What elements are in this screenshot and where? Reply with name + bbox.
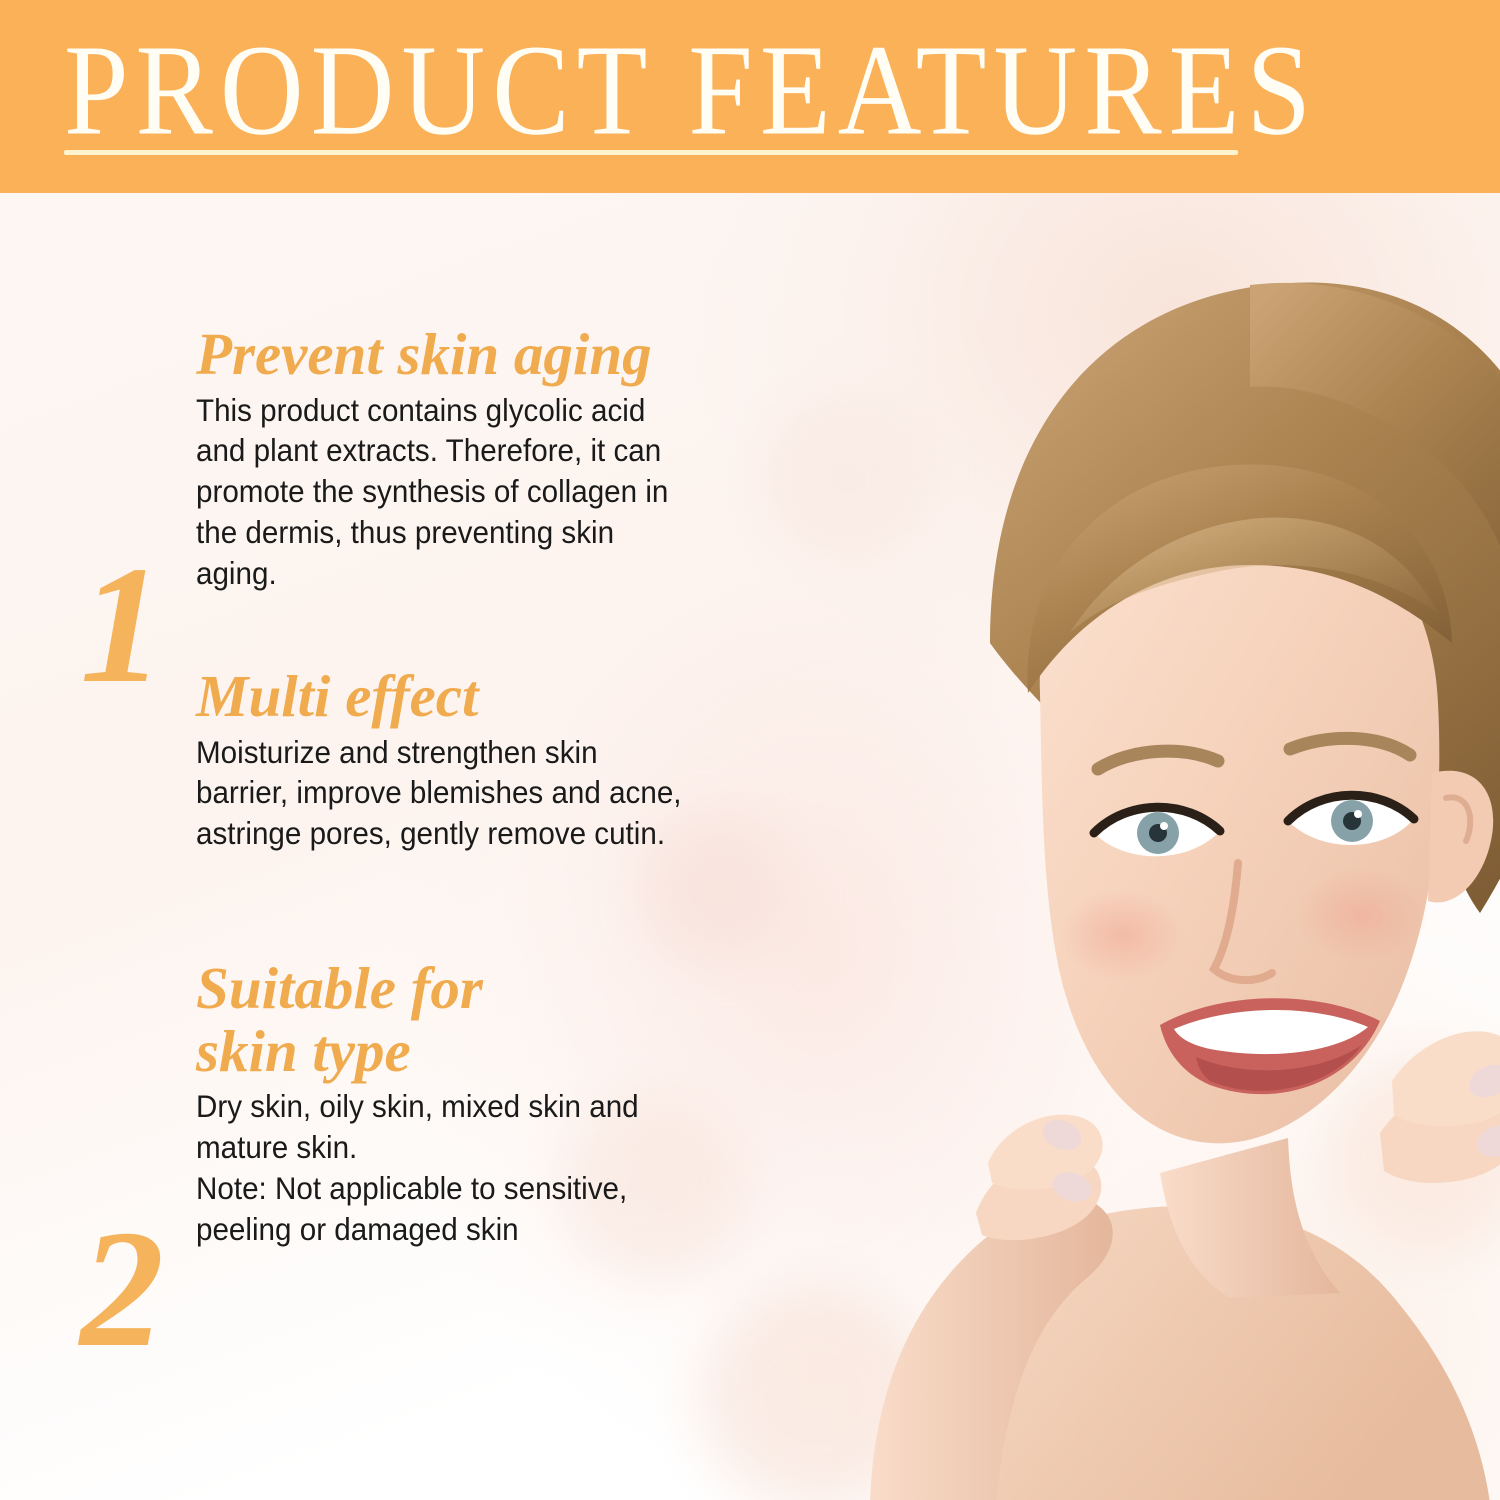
feature-heading: Suitable for skin type [196,957,716,1082]
feature-body: Suitable for skin type Dry skin, oily sk… [196,957,716,1250]
feature-paragraph: Dry skin, oily skin, mixed skin and matu… [196,1086,685,1168]
feature-number: 1 [62,541,182,709]
page-title: PRODUCT FEATURES [64,26,1318,156]
feature-list: 1 Prevent skin aging This product contai… [0,193,760,1500]
feature-body: Multi effect Moisturize and strengthen s… [196,665,716,854]
feature-heading: Prevent skin aging [196,323,716,386]
woman-portrait-illustration [690,193,1500,1500]
product-features-infographic: PRODUCT FEATURES [0,0,1500,1500]
feature-paragraph: This product contains glycolic acid and … [196,390,685,595]
title-underline-rule [64,150,1238,155]
feature-heading: Multi effect [196,665,716,728]
feature-number: 2 [62,1205,182,1373]
feature-body: Prevent skin aging This product contains… [196,323,716,594]
header-band: PRODUCT FEATURES [0,0,1500,193]
feature-paragraph: Moisturize and strengthen skin barrier, … [196,732,685,855]
feature-note: Note: Not applicable to sensitive, peeli… [196,1168,685,1250]
